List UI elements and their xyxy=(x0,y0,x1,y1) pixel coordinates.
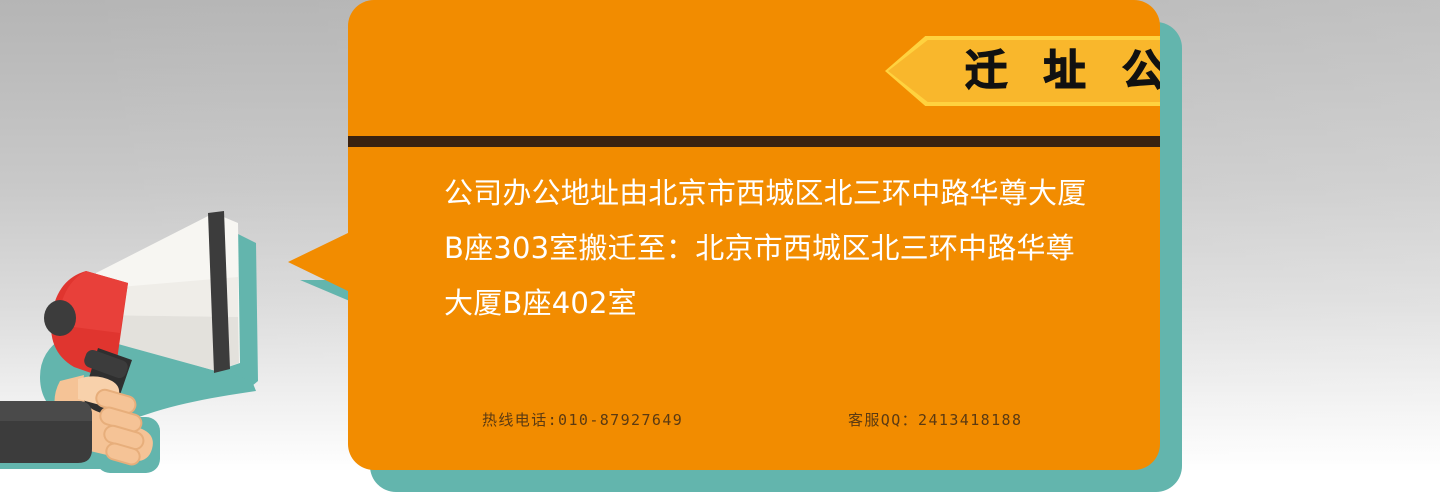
contact-footer: 热线电话:010-87927649 客服QQ：2413418188 xyxy=(348,404,1160,434)
megaphone-illustration xyxy=(0,185,330,492)
page-title: 迁 址 公 告 xyxy=(885,36,1160,106)
title-divider xyxy=(348,136,1160,147)
hotline-text: 热线电话:010-87927649 xyxy=(482,409,683,430)
sleeve xyxy=(0,401,92,463)
announcement-body-text: 公司办公地址由北京市西城区北三环中路华尊大厦B座303室搬迁至：北京市西城区北三… xyxy=(444,166,1104,331)
announcement-banner-canvas: 迁 址 公 告 公司办公地址由北京市西城区北三环中路华尊大厦B座303室搬迁至：… xyxy=(0,0,1440,492)
megaphone-knob xyxy=(44,300,76,336)
title-banner: 迁 址 公 告 xyxy=(885,36,1160,106)
announcement-card: 迁 址 公 告 公司办公地址由北京市西城区北三环中路华尊大厦B座303室搬迁至：… xyxy=(348,0,1160,470)
customer-service-qq-text: 客服QQ：2413418188 xyxy=(848,409,1022,430)
